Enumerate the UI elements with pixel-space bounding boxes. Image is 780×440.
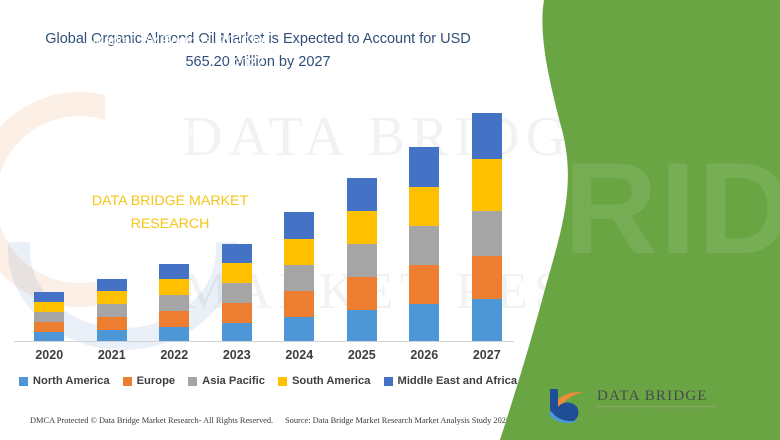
bar-segment bbox=[347, 211, 377, 244]
legend-item-north-america[interactable]: North America bbox=[19, 375, 110, 387]
bar-segment bbox=[347, 310, 377, 342]
bar-segment bbox=[472, 256, 502, 299]
legend-swatch-icon bbox=[188, 377, 197, 386]
legend-label: South America bbox=[292, 375, 371, 387]
legend-item-south-america[interactable]: South America bbox=[278, 375, 371, 387]
x-axis-label-2022: 2022 bbox=[145, 348, 203, 370]
x-axis-label-2021: 2021 bbox=[83, 348, 141, 370]
bar-segment bbox=[284, 317, 314, 342]
bar-segment bbox=[472, 299, 502, 342]
bar-segment bbox=[159, 311, 189, 327]
bar-segment bbox=[222, 323, 252, 342]
footer-dmca-notice: DMCA Protected © Data Bridge Market Rese… bbox=[30, 416, 273, 425]
x-axis-tick-labels: 20202021202220232024202520262027 bbox=[18, 348, 518, 370]
dbmr-logo-top-text: DATA BRIDGE bbox=[597, 388, 715, 405]
bar-stack-2024 bbox=[284, 212, 314, 342]
x-axis-label-2020: 2020 bbox=[20, 348, 78, 370]
bar-segment bbox=[472, 159, 502, 211]
bar-column-2020 bbox=[20, 100, 78, 342]
legend-label: Middle East and Africa bbox=[398, 375, 518, 387]
hexagon-2027-label: 2027 bbox=[120, 149, 151, 165]
bar-segment bbox=[347, 244, 377, 277]
bar-segment bbox=[222, 263, 252, 283]
bar-segment bbox=[284, 212, 314, 239]
legend-label: Asia Pacific bbox=[202, 375, 265, 387]
legend-item-middle-east-and-africa[interactable]: Middle East and Africa bbox=[384, 375, 518, 387]
bar-segment bbox=[34, 292, 64, 302]
x-axis-label-2024: 2024 bbox=[270, 348, 328, 370]
bar-column-2027 bbox=[458, 100, 516, 342]
x-axis-line bbox=[14, 341, 514, 342]
bar-segment bbox=[97, 291, 127, 304]
bar-segment bbox=[97, 279, 127, 291]
x-axis-label-2027: 2027 bbox=[458, 348, 516, 370]
dbmr-logo: DATA BRIDGE MARKET RESEARCH bbox=[545, 385, 725, 427]
bar-stack-2022 bbox=[159, 264, 189, 342]
hexagon-group: 2020 2027 bbox=[90, 92, 280, 182]
bar-segment bbox=[159, 279, 189, 295]
x-axis-label-2023: 2023 bbox=[208, 348, 266, 370]
brand-name: DATA BRIDGE MARKET RESEARCH bbox=[80, 190, 260, 235]
bar-segment bbox=[347, 277, 377, 310]
dbmr-logo-text: DATA BRIDGE MARKET RESEARCH bbox=[597, 388, 715, 416]
bar-segment bbox=[472, 113, 502, 159]
legend-swatch-icon bbox=[278, 377, 287, 386]
bar-column-2026 bbox=[395, 100, 453, 342]
bar-stack-2020 bbox=[34, 292, 64, 342]
bar-segment bbox=[97, 317, 127, 330]
legend-item-europe[interactable]: Europe bbox=[123, 375, 176, 387]
bar-segment bbox=[409, 265, 439, 304]
bar-stack-2021 bbox=[97, 279, 127, 342]
footer-source-note: Source: Data Bridge Market Research Mark… bbox=[285, 416, 510, 425]
bar-segment bbox=[409, 147, 439, 187]
legend-swatch-icon bbox=[123, 377, 132, 386]
dbmr-logo-mark-icon bbox=[545, 385, 589, 425]
bar-stack-2026 bbox=[409, 147, 439, 342]
right-panel-title: Global Organic Almond Oil Market, By Reg… bbox=[72, 8, 264, 74]
legend-label: Europe bbox=[137, 375, 176, 387]
bar-segment bbox=[159, 264, 189, 279]
dbmr-logo-bottom-text: MARKET RESEARCH bbox=[597, 407, 715, 416]
x-axis-label-2026: 2026 bbox=[395, 348, 453, 370]
legend-label: North America bbox=[33, 375, 110, 387]
bar-segment bbox=[409, 304, 439, 342]
bar-segment bbox=[222, 303, 252, 323]
legend-item-asia-pacific[interactable]: Asia Pacific bbox=[188, 375, 265, 387]
bar-stack-2027 bbox=[472, 113, 502, 342]
bar-segment bbox=[34, 322, 64, 332]
bar-segment bbox=[222, 244, 252, 263]
hexagon-2020-label: 2020 bbox=[176, 123, 207, 139]
bar-segment bbox=[284, 265, 314, 291]
bar-segment bbox=[409, 226, 439, 265]
bar-segment bbox=[284, 291, 314, 317]
bar-segment bbox=[284, 239, 314, 265]
bar-column-2025 bbox=[333, 100, 391, 342]
bar-segment bbox=[97, 304, 127, 317]
bar-segment bbox=[409, 187, 439, 226]
legend-swatch-icon bbox=[19, 377, 28, 386]
bar-segment bbox=[472, 211, 502, 256]
bar-segment bbox=[34, 302, 64, 312]
bar-segment bbox=[34, 312, 64, 322]
bar-segment bbox=[159, 295, 189, 311]
bar-segment bbox=[222, 283, 252, 303]
bar-segment bbox=[159, 327, 189, 342]
infographic-root: DATA BRIDGE MARKET RESEARCH Global Organ… bbox=[0, 0, 780, 440]
bar-stack-2023 bbox=[222, 244, 252, 342]
chart-legend: North AmericaEuropeAsia PacificSouth Ame… bbox=[18, 375, 518, 387]
hexagon-2027: 2027 bbox=[100, 118, 172, 196]
legend-swatch-icon bbox=[384, 377, 393, 386]
x-axis-label-2025: 2025 bbox=[333, 348, 391, 370]
bar-segment bbox=[347, 178, 377, 211]
bar-stack-2025 bbox=[347, 178, 377, 342]
